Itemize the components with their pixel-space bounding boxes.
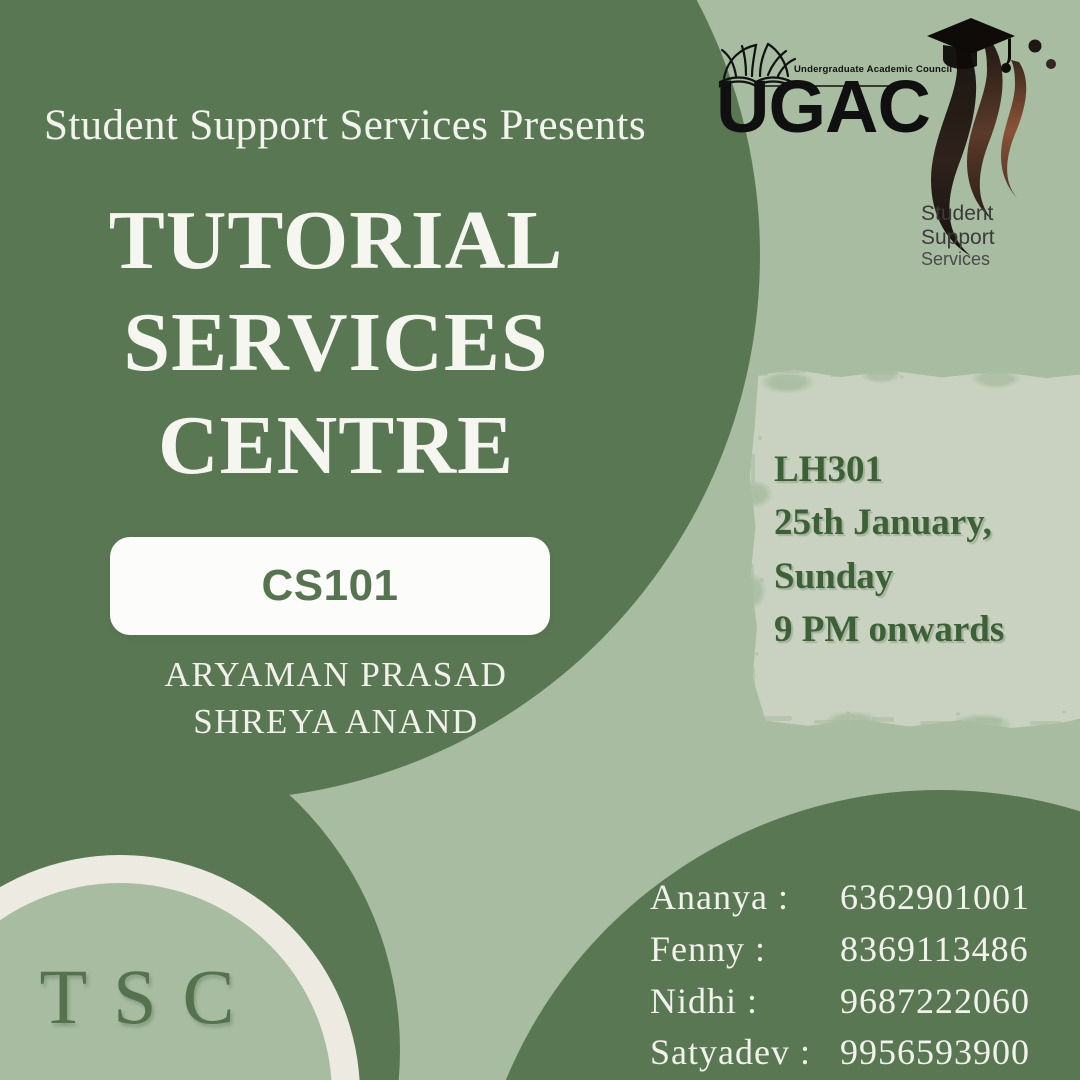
contact-list: Ananya : 6362901001 Fenny : 8369113486 N…: [650, 872, 1030, 1079]
title-line-2: SERVICES: [36, 292, 636, 394]
sss-line-2: Support: [921, 226, 995, 250]
course-code-label: CS101: [261, 561, 398, 611]
detail-venue: LH301: [774, 443, 1004, 496]
contact-row: Fenny : 8369113486: [650, 924, 1030, 976]
contact-phone: 9687222060: [840, 976, 1030, 1028]
tutor-name-2: SHREYA ANAND: [36, 699, 636, 746]
contact-name: Fenny :: [650, 924, 840, 976]
page-title: TUTORIAL SERVICES CENTRE: [36, 190, 636, 497]
detail-time: 9 PM onwards: [774, 603, 1004, 656]
contact-row: Satyadev : 9956593900: [650, 1027, 1030, 1079]
detail-day: Sunday: [774, 550, 1004, 603]
ugac-wordmark: UGAC: [716, 70, 930, 144]
contact-phone: 9956593900: [840, 1027, 1030, 1079]
tutor-list: ARYAMAN PRASAD SHREYA ANAND: [36, 652, 636, 746]
contact-name: Satyadev :: [650, 1027, 840, 1079]
event-details: LH301 25th January, Sunday 9 PM onwards: [774, 443, 1004, 656]
contact-row: Nidhi : 9687222060: [650, 976, 1030, 1028]
title-line-1: TUTORIAL: [36, 190, 636, 292]
event-poster: TSC: [0, 0, 1080, 1080]
student-support-services-logo: Student Support Services: [915, 14, 1065, 279]
sss-wordmark: Student Support Services: [921, 202, 995, 269]
tutor-name-1: ARYAMAN PRASAD: [36, 652, 636, 699]
contact-name: Ananya :: [650, 872, 840, 924]
contact-phone: 8369113486: [840, 924, 1029, 976]
contact-phone: 6362901001: [840, 872, 1030, 924]
tsc-watermark-text: TSC: [30, 958, 270, 1036]
contact-row: Ananya : 6362901001: [650, 872, 1030, 924]
detail-date: 25th January,: [774, 496, 1004, 549]
title-line-3: CENTRE: [36, 395, 636, 497]
ugac-logo: Undergraduate Academic Council UGAC: [716, 42, 926, 147]
sss-line-3: Services: [921, 249, 995, 269]
course-code-badge: CS101: [110, 537, 550, 635]
presenter-line: Student Support Services Presents: [44, 101, 646, 150]
sss-line-1: Student: [921, 202, 995, 226]
contact-name: Nidhi :: [650, 976, 840, 1028]
